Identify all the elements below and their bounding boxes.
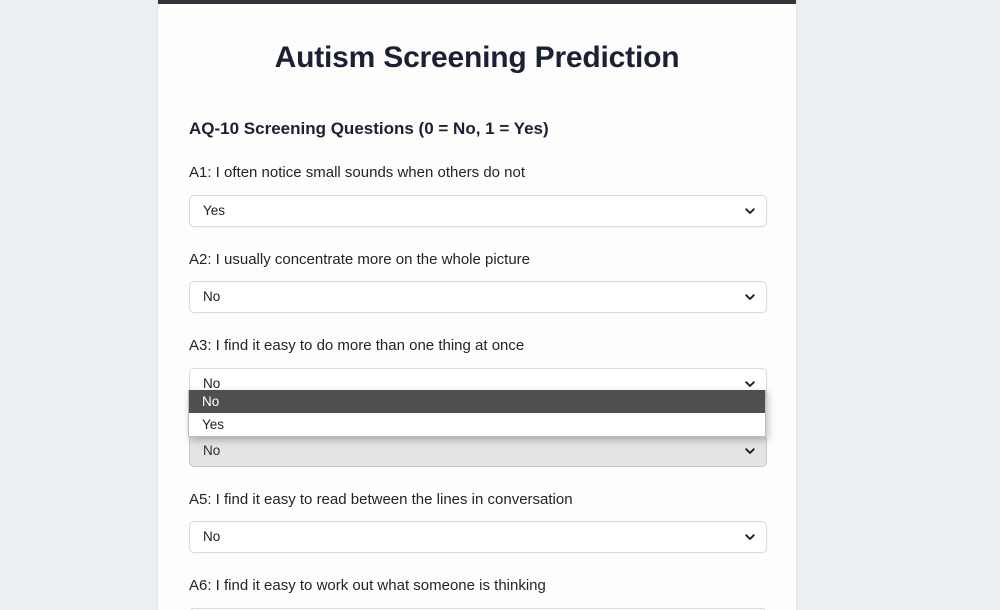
select-a4-value: No xyxy=(203,444,744,458)
dropdown-popup-a3[interactable]: No Yes xyxy=(188,390,766,437)
select-a1[interactable]: Yes xyxy=(189,195,767,227)
select-a2[interactable]: No xyxy=(189,281,767,313)
chevron-down-icon xyxy=(744,291,756,303)
select-a5[interactable]: No xyxy=(189,521,767,553)
page-title: Autism Screening Prediction xyxy=(189,0,765,76)
question-label-a3: A3: I find it easy to do more than one t… xyxy=(189,313,765,356)
question-block-a6: A6: I find it easy to work out what some… xyxy=(189,553,765,610)
question-block-a5: A5: I find it easy to read between the l… xyxy=(189,467,765,554)
dropdown-option-no[interactable]: No xyxy=(189,390,765,413)
select-a5-value: No xyxy=(203,530,744,544)
dropdown-option-yes[interactable]: Yes xyxy=(189,413,765,436)
select-a4[interactable]: No xyxy=(189,435,767,467)
chevron-down-icon xyxy=(744,445,756,457)
select-a3-value: No xyxy=(203,377,744,391)
browser-viewport: Autism Screening Prediction AQ-10 Screen… xyxy=(0,0,1000,610)
question-block-a2: A2: I usually concentrate more on the wh… xyxy=(189,227,765,314)
top-accent-bar xyxy=(158,0,796,4)
form-content: Autism Screening Prediction AQ-10 Screen… xyxy=(158,0,796,610)
question-label-a1: A1: I often notice small sounds when oth… xyxy=(189,140,765,183)
page-card: Autism Screening Prediction AQ-10 Screen… xyxy=(157,0,797,610)
chevron-down-icon xyxy=(744,531,756,543)
section-heading: AQ-10 Screening Questions (0 = No, 1 = Y… xyxy=(189,76,765,140)
question-block-a3: A3: I find it easy to do more than one t… xyxy=(189,313,765,400)
question-label-a5: A5: I find it easy to read between the l… xyxy=(189,467,765,510)
select-a1-value: Yes xyxy=(203,204,744,218)
select-a2-value: No xyxy=(203,290,744,304)
question-label-a6: A6: I find it easy to work out what some… xyxy=(189,553,765,596)
chevron-down-icon xyxy=(744,205,756,217)
question-label-a2: A2: I usually concentrate more on the wh… xyxy=(189,227,765,270)
question-block-a1: A1: I often notice small sounds when oth… xyxy=(189,140,765,227)
chevron-down-icon xyxy=(744,378,756,390)
